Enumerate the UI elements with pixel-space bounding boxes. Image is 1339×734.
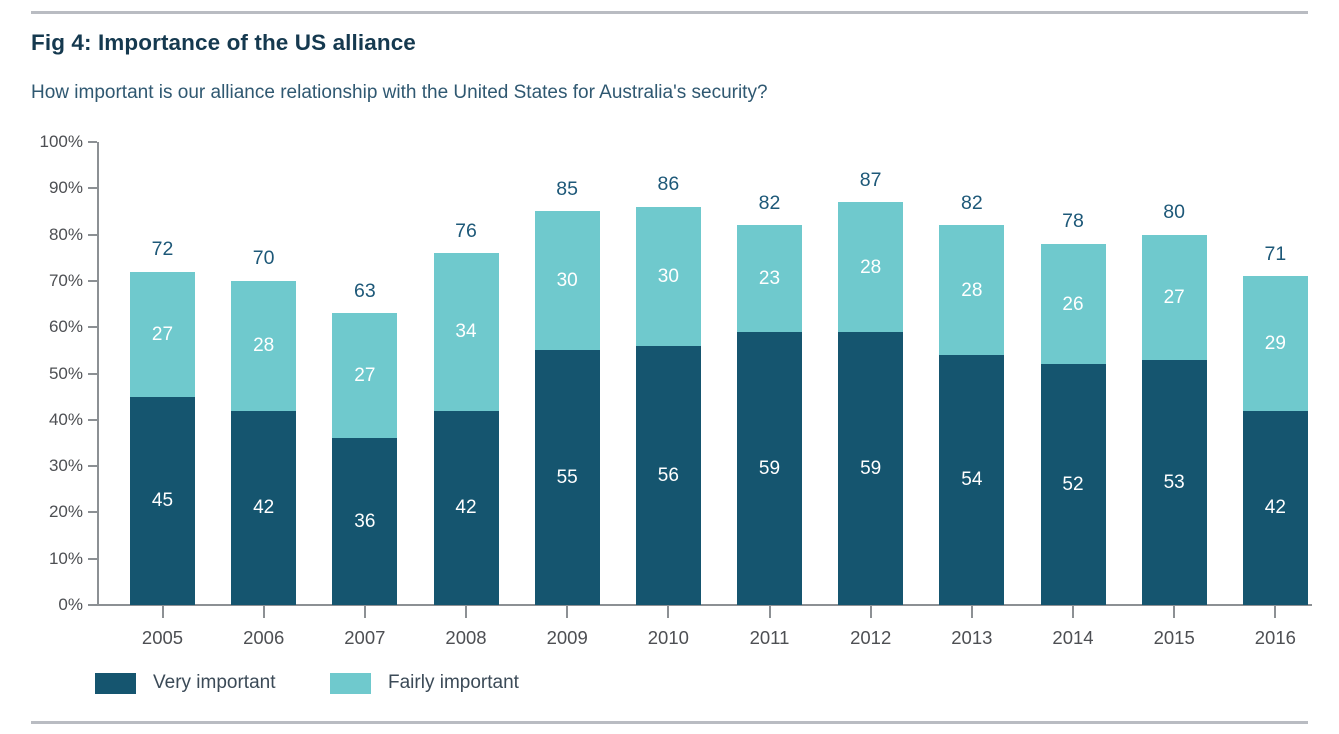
bar-segment-value: 42 [455, 498, 476, 517]
bar-segment-value: 45 [152, 491, 173, 510]
x-axis-tick [364, 606, 366, 618]
y-axis-label: 10% [49, 550, 83, 567]
x-axis-tick [566, 606, 568, 618]
bar-segment-value: 28 [860, 258, 881, 277]
bar-segment-fairly-important[interactable]: 30 [535, 211, 600, 350]
x-axis-tick [465, 606, 467, 618]
bar-segment-fairly-important[interactable]: 28 [939, 225, 1004, 355]
legend-label: Fairly important [388, 672, 519, 694]
bar-group[interactable]: 423476 [434, 253, 499, 605]
y-axis-tick [88, 419, 97, 421]
bar-segment-value: 28 [253, 336, 274, 355]
bar-segment-fairly-important[interactable]: 27 [332, 313, 397, 438]
y-axis-label: 30% [49, 457, 83, 474]
legend-item[interactable]: Fairly important [330, 670, 519, 696]
bar-group[interactable]: 522678 [1041, 244, 1106, 605]
x-axis-label: 2016 [1225, 627, 1325, 649]
bar-total-label: 85 [535, 180, 600, 200]
bar-segment-value: 30 [557, 271, 578, 290]
bar-total-label: 80 [1142, 203, 1207, 223]
plot-area: 4527724228703627634234765530855630865923… [98, 142, 1312, 605]
bar-total-label: 82 [939, 194, 1004, 214]
bar-group[interactable]: 532780 [1142, 235, 1207, 605]
x-axis-tick [769, 606, 771, 618]
bar-segment-very-important[interactable]: 42 [1243, 411, 1308, 605]
x-axis-label: 2013 [922, 627, 1022, 649]
y-axis-tick [88, 558, 97, 560]
bar-total-label: 82 [737, 194, 802, 214]
x-axis-tick [162, 606, 164, 618]
y-axis-label: 0% [58, 596, 83, 613]
x-axis-label: 2015 [1124, 627, 1224, 649]
y-axis-label: 80% [49, 226, 83, 243]
bar-segment-very-important[interactable]: 54 [939, 355, 1004, 605]
y-axis-tick [88, 511, 97, 513]
bar-group[interactable]: 592887 [838, 202, 903, 605]
bar-segment-value: 28 [961, 281, 982, 300]
y-axis-tick [88, 280, 97, 282]
bar-segment-value: 30 [658, 267, 679, 286]
bar-segment-value: 36 [354, 512, 375, 531]
x-axis-tick [1072, 606, 1074, 618]
x-axis-tick [870, 606, 872, 618]
bar-segment-very-important[interactable]: 45 [130, 397, 195, 605]
bar-segment-value: 53 [1164, 473, 1185, 492]
bar-segment-very-important[interactable]: 59 [737, 332, 802, 605]
bar-total-label: 78 [1041, 212, 1106, 232]
bar-segment-value: 42 [253, 498, 274, 517]
bar-segment-value: 42 [1265, 498, 1286, 517]
x-axis-label: 2010 [618, 627, 718, 649]
bar-total-label: 86 [636, 175, 701, 195]
bar-group[interactable]: 362763 [332, 313, 397, 605]
y-axis-label: 40% [49, 411, 83, 428]
y-axis-tick [88, 234, 97, 236]
x-axis-label: 2005 [113, 627, 213, 649]
x-axis-tick [667, 606, 669, 618]
bar-segment-value: 26 [1062, 295, 1083, 314]
x-axis-tick [263, 606, 265, 618]
y-axis-label: 50% [49, 365, 83, 382]
y-axis-label: 70% [49, 272, 83, 289]
bar-group[interactable]: 592382 [737, 225, 802, 605]
bar-segment-very-important[interactable]: 56 [636, 346, 701, 605]
y-axis-tick [88, 604, 97, 606]
bar-segment-value: 23 [759, 269, 780, 288]
bar-segment-value: 52 [1062, 475, 1083, 494]
bar-segment-very-important[interactable]: 53 [1142, 360, 1207, 605]
bar-segment-value: 56 [658, 466, 679, 485]
bar-segment-fairly-important[interactable]: 29 [1243, 276, 1308, 410]
bar-segment-fairly-important[interactable]: 28 [231, 281, 296, 411]
y-axis-tick [88, 373, 97, 375]
x-axis-tick [971, 606, 973, 618]
bar-segment-very-important[interactable]: 55 [535, 350, 600, 605]
bar-group[interactable]: 563086 [636, 207, 701, 605]
x-axis-label: 2008 [416, 627, 516, 649]
legend-swatch [330, 673, 371, 694]
y-axis-tick [88, 465, 97, 467]
bar-total-label: 87 [838, 171, 903, 191]
x-axis-label: 2007 [315, 627, 415, 649]
bar-segment-fairly-important[interactable]: 27 [1142, 235, 1207, 360]
stacked-bar-chart: 0%10%20%30%40%50%60%70%80%90%100% 200520… [0, 0, 1339, 734]
bar-segment-fairly-important[interactable]: 28 [838, 202, 903, 332]
bar-segment-value: 54 [961, 470, 982, 489]
bar-segment-fairly-important[interactable]: 26 [1041, 244, 1106, 364]
bar-segment-fairly-important[interactable]: 27 [130, 272, 195, 397]
figure-page: Fig 4: Importance of the US alliance How… [0, 0, 1339, 734]
y-axis-label: 100% [40, 133, 83, 150]
bar-segment-value: 59 [860, 459, 881, 478]
bar-segment-very-important[interactable]: 59 [838, 332, 903, 605]
y-axis-tick [88, 326, 97, 328]
x-axis-tick [1274, 606, 1276, 618]
y-axis-tick [88, 187, 97, 189]
bar-group[interactable]: 553085 [535, 211, 600, 605]
bar-segment-value: 29 [1265, 334, 1286, 353]
y-axis-tick [88, 141, 97, 143]
bar-segment-fairly-important[interactable]: 23 [737, 225, 802, 331]
bar-group[interactable]: 422971 [1243, 276, 1308, 605]
bar-total-label: 76 [434, 222, 499, 242]
bar-segment-value: 27 [354, 366, 375, 385]
x-axis-label: 2012 [821, 627, 921, 649]
bar-segment-very-important[interactable]: 36 [332, 438, 397, 605]
bar-total-label: 72 [130, 240, 195, 260]
bar-segment-very-important[interactable]: 52 [1041, 364, 1106, 605]
x-axis-label: 2006 [214, 627, 314, 649]
x-axis-label: 2014 [1023, 627, 1123, 649]
bar-total-label: 70 [231, 249, 296, 269]
legend-swatch [95, 673, 136, 694]
bar-segment-fairly-important[interactable]: 34 [434, 253, 499, 410]
x-axis-tick [1173, 606, 1175, 618]
bar-total-label: 71 [1243, 245, 1308, 265]
bar-segment-value: 59 [759, 459, 780, 478]
bar-segment-value: 27 [1164, 288, 1185, 307]
y-axis-label: 60% [49, 318, 83, 335]
bar-segment-value: 34 [455, 322, 476, 341]
bar-segment-very-important[interactable]: 42 [231, 411, 296, 605]
bar-total-label: 63 [332, 282, 397, 302]
bar-segment-value: 27 [152, 325, 173, 344]
bar-group[interactable]: 542882 [939, 225, 1004, 605]
y-axis-label: 90% [49, 179, 83, 196]
x-axis-label: 2011 [720, 627, 820, 649]
bar-group[interactable]: 452772 [130, 272, 195, 605]
bar-segment-value: 55 [557, 468, 578, 487]
bar-segment-very-important[interactable]: 42 [434, 411, 499, 605]
x-axis-label: 2009 [517, 627, 617, 649]
legend-item[interactable]: Very important [95, 670, 276, 696]
y-axis-label: 20% [49, 503, 83, 520]
bar-group[interactable]: 422870 [231, 281, 296, 605]
bar-segment-fairly-important[interactable]: 30 [636, 207, 701, 346]
legend-label: Very important [153, 672, 276, 694]
